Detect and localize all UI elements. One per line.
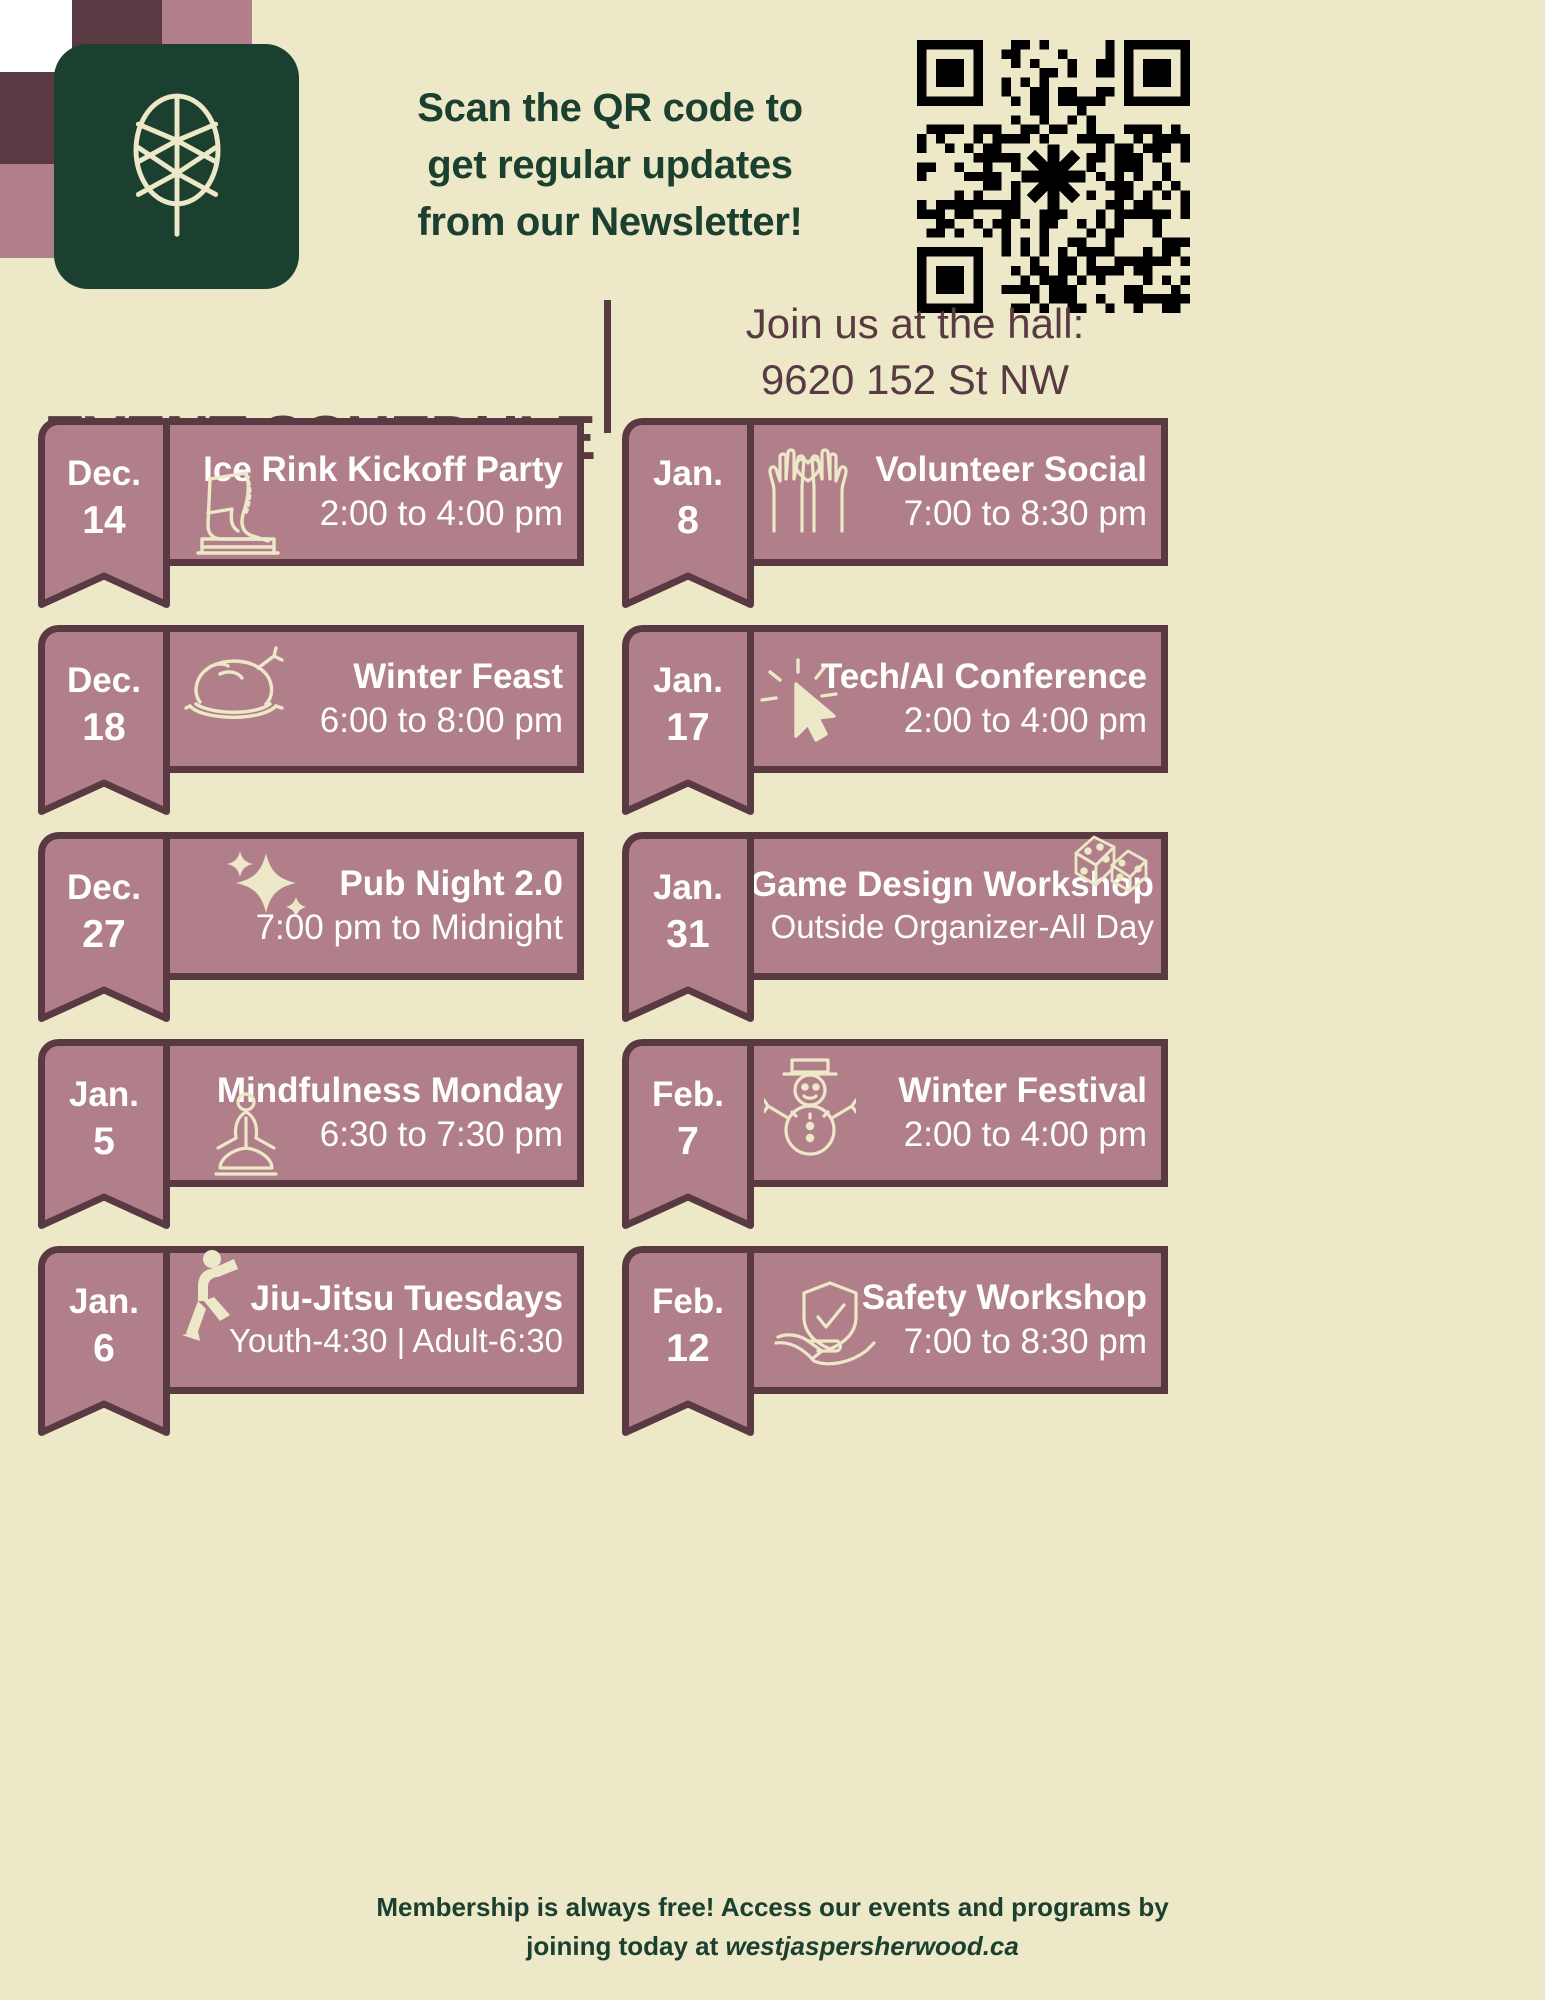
event-name: Winter Feast <box>166 658 565 695</box>
event-date: Jan. 5 <box>38 1039 170 1229</box>
event-card-body: Safety Workshop 7:00 to 8:30 pm <box>744 1246 1168 1394</box>
event-time: 6:00 to 8:00 pm <box>166 701 565 740</box>
event-date: Jan. 31 <box>622 832 754 1022</box>
event-date-ribbon: Jan. 5 <box>38 1039 170 1229</box>
event-name: Winter Festival <box>750 1072 1149 1109</box>
leaf-icon <box>118 89 236 244</box>
event-date-ribbon: Jan. 8 <box>622 418 754 608</box>
event-date: Feb. 12 <box>622 1246 754 1436</box>
event-day: 5 <box>93 1120 115 1164</box>
event-date-ribbon: Dec. 27 <box>38 832 170 1022</box>
event-month: Dec. <box>67 868 141 907</box>
event-name: Jiu-Jitsu Tuesdays <box>166 1280 565 1317</box>
headline-line-1: Scan the QR code to <box>330 80 890 137</box>
event-day: 7 <box>677 1120 699 1164</box>
event-card-body: Pub Night 2.0 7:00 pm to Midnight <box>160 832 584 980</box>
headline-line-2: get regular updates <box>330 137 890 194</box>
event-card-content: Winter Feast 6:00 to 8:00 pm <box>166 632 565 766</box>
event-month: Jan. <box>69 1075 139 1114</box>
event-date-ribbon: Feb. 7 <box>622 1039 754 1229</box>
event-card-content: Jiu-Jitsu Tuesdays Youth-4:30 | Adult-6:… <box>166 1253 565 1387</box>
event-day: 27 <box>82 913 125 957</box>
event-card-body: Game Design Workshop Outside Organizer-A… <box>744 832 1168 980</box>
event-card-content: Game Design Workshop Outside Organizer-A… <box>750 839 1156 973</box>
event-day: 17 <box>666 706 709 750</box>
footer-join-text: joining today at <box>526 1931 725 1961</box>
event-month: Jan. <box>653 868 723 907</box>
event-card-body: Mindfulness Monday 6:30 to 7:30 pm <box>160 1039 584 1187</box>
event-card-content: Volunteer Social 7:00 to 8:30 pm <box>750 425 1149 559</box>
hall-line-2: 9620 152 St NW <box>640 352 1190 408</box>
event-name: Pub Night 2.0 <box>166 865 565 902</box>
event-card-content: Tech/AI Conference 2:00 to 4:00 pm <box>750 632 1149 766</box>
event-card[interactable]: Winter Feast 6:00 to 8:00 pm Dec. 18 <box>38 625 584 800</box>
event-time: 2:00 to 4:00 pm <box>750 1115 1149 1154</box>
headline-line-3: from our Newsletter! <box>330 194 890 251</box>
footer-line-1: Membership is always free! Access our ev… <box>0 1888 1545 1927</box>
event-day: 14 <box>82 499 125 543</box>
event-card[interactable]: Safety Workshop 7:00 to 8:30 pm Feb. 12 <box>622 1246 1168 1421</box>
event-time: 7:00 to 8:30 pm <box>750 1322 1149 1361</box>
event-month: Dec. <box>67 454 141 493</box>
event-columns: Ice Rink Kickoff Party 2:00 to 4:00 pm D… <box>0 418 1545 1421</box>
event-card-body: Ice Rink Kickoff Party 2:00 to 4:00 pm <box>160 418 584 566</box>
event-time: 6:30 to 7:30 pm <box>166 1115 565 1154</box>
event-card-content: Pub Night 2.0 7:00 pm to Midnight <box>166 839 565 973</box>
event-month: Jan. <box>653 454 723 493</box>
event-time: Youth-4:30 | Adult-6:30 <box>166 1323 565 1360</box>
event-card[interactable]: Pub Night 2.0 7:00 pm to Midnight Dec. 2… <box>38 832 584 1007</box>
event-day: 8 <box>677 499 699 543</box>
hall-line-1: Join us at the hall: <box>640 296 1190 352</box>
event-name: Safety Workshop <box>750 1279 1149 1316</box>
event-day: 6 <box>93 1327 115 1371</box>
website-link[interactable]: westjaspersherwood.ca <box>726 1931 1019 1961</box>
event-card-body: Winter Festival 2:00 to 4:00 pm <box>744 1039 1168 1187</box>
event-card-body: Tech/AI Conference 2:00 to 4:00 pm <box>744 625 1168 773</box>
event-name: Volunteer Social <box>750 451 1149 488</box>
event-time: Outside Organizer-All Day <box>750 909 1156 946</box>
event-card-content: Winter Festival 2:00 to 4:00 pm <box>750 1046 1149 1180</box>
event-card[interactable]: Mindfulness Monday 6:30 to 7:30 pm Jan. … <box>38 1039 584 1214</box>
event-date-ribbon: Dec. 18 <box>38 625 170 815</box>
event-date: Dec. 18 <box>38 625 170 815</box>
event-date: Jan. 6 <box>38 1246 170 1436</box>
event-date: Jan. 8 <box>622 418 754 608</box>
event-date-ribbon: Jan. 17 <box>622 625 754 815</box>
event-date-ribbon: Dec. 14 <box>38 418 170 608</box>
logo-tile <box>54 44 299 289</box>
event-day: 18 <box>82 706 125 750</box>
event-date: Dec. 27 <box>38 832 170 1022</box>
event-card-body: Volunteer Social 7:00 to 8:30 pm <box>744 418 1168 566</box>
event-card[interactable]: Ice Rink Kickoff Party 2:00 to 4:00 pm D… <box>38 418 584 593</box>
event-date: Dec. 14 <box>38 418 170 608</box>
event-card-body: Winter Feast 6:00 to 8:00 pm <box>160 625 584 773</box>
event-name: Mindfulness Monday <box>166 1072 565 1109</box>
event-month: Jan. <box>653 661 723 700</box>
event-card-content: Ice Rink Kickoff Party 2:00 to 4:00 pm <box>166 425 565 559</box>
event-name: Tech/AI Conference <box>750 658 1149 695</box>
event-column-right: Volunteer Social 7:00 to 8:30 pm Jan. 8 <box>622 418 1168 1421</box>
event-month: Feb. <box>652 1075 724 1114</box>
event-card-content: Safety Workshop 7:00 to 8:30 pm <box>750 1253 1149 1387</box>
event-time: 7:00 pm to Midnight <box>166 908 565 947</box>
event-card-body: Jiu-Jitsu Tuesdays Youth-4:30 | Adult-6:… <box>160 1246 584 1394</box>
event-card[interactable]: Game Design Workshop Outside Organizer-A… <box>622 832 1168 1007</box>
header-divider <box>604 300 611 433</box>
event-time: 2:00 to 4:00 pm <box>750 701 1149 740</box>
hall-address: Join us at the hall: 9620 152 St NW <box>640 296 1190 409</box>
event-date: Feb. 7 <box>622 1039 754 1229</box>
footer: Membership is always free! Access our ev… <box>0 1888 1545 1966</box>
qr-code[interactable] <box>917 40 1190 313</box>
event-month: Jan. <box>69 1282 139 1321</box>
event-day: 31 <box>666 913 709 957</box>
event-month: Feb. <box>652 1282 724 1321</box>
event-column-left: Ice Rink Kickoff Party 2:00 to 4:00 pm D… <box>38 418 584 1421</box>
event-card[interactable]: Tech/AI Conference 2:00 to 4:00 pm Jan. … <box>622 625 1168 800</box>
event-date-ribbon: Jan. 31 <box>622 832 754 1022</box>
event-card-content: Mindfulness Monday 6:30 to 7:30 pm <box>166 1046 565 1180</box>
event-date: Jan. 17 <box>622 625 754 815</box>
event-time: 2:00 to 4:00 pm <box>166 494 565 533</box>
event-time: 7:00 to 8:30 pm <box>750 494 1149 533</box>
event-name: Game Design Workshop <box>750 866 1156 903</box>
event-name: Ice Rink Kickoff Party <box>166 451 565 488</box>
event-month: Dec. <box>67 661 141 700</box>
event-card[interactable]: Jiu-Jitsu Tuesdays Youth-4:30 | Adult-6:… <box>38 1246 584 1421</box>
event-date-ribbon: Feb. 12 <box>622 1246 754 1436</box>
event-card[interactable]: Volunteer Social 7:00 to 8:30 pm Jan. 8 <box>622 418 1168 593</box>
event-card[interactable]: Winter Festival 2:00 to 4:00 pm Feb. 7 <box>622 1039 1168 1214</box>
footer-line-2: joining today at westjaspersherwood.ca <box>0 1927 1545 1966</box>
event-day: 12 <box>666 1327 709 1371</box>
headline: Scan the QR code to get regular updates … <box>330 80 890 250</box>
event-date-ribbon: Jan. 6 <box>38 1246 170 1436</box>
